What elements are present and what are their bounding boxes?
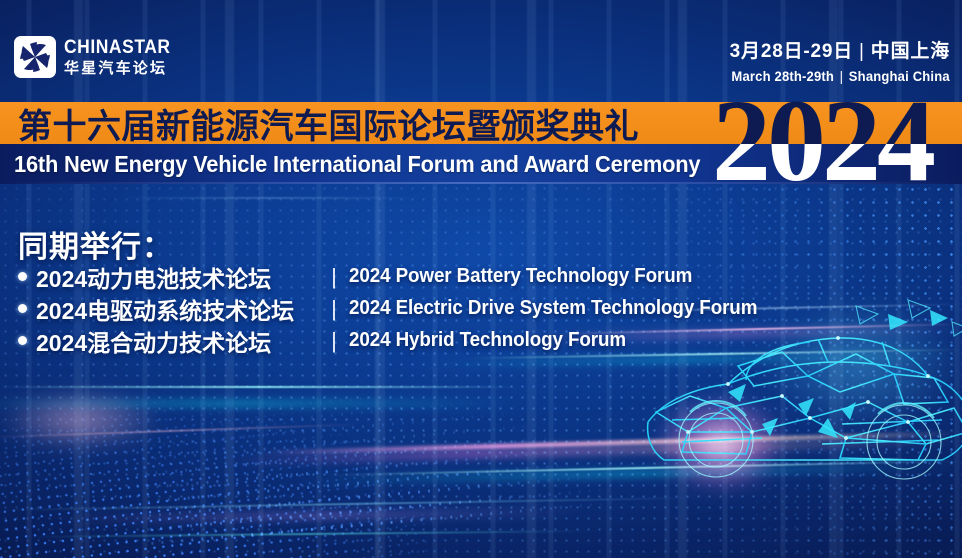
forum-name-en: 2024 Hybrid Technology Forum — [349, 329, 626, 352]
forum-name-cn: 2024电驱动系统技术论坛 — [36, 292, 319, 326]
concurrent-forum-list: 2024动力电池技术论坛 | 2024 Power Battery Techno… — [18, 262, 783, 358]
forum-name-cn: 2024混合动力技术论坛 — [36, 324, 319, 358]
forum-name-en: 2024 Power Battery Technology Forum — [349, 265, 692, 288]
date-separator-cn: | — [853, 42, 871, 61]
logo-name-en: CHINASTAR — [64, 38, 171, 57]
event-date-cn: 3月28日-29日 — [730, 41, 853, 62]
logo-name-cn: 华星汽车论坛 — [64, 61, 180, 76]
bullet-dot-icon — [18, 304, 27, 313]
event-date-en: March 28th-29th — [732, 68, 835, 84]
bullet-dot-icon — [18, 272, 27, 281]
star-burst-icon — [14, 36, 56, 78]
bullet-dot-icon — [18, 336, 27, 345]
list-item: 2024电驱动系统技术论坛 | 2024 Electric Drive Syst… — [18, 294, 783, 323]
event-date-location: 3月28日-29日|中国上海 March 28th-29th|Shanghai … — [715, 42, 950, 83]
event-title-cn: 第十六届新能源汽车国际论坛暨颁奖典礼 — [18, 103, 639, 143]
forum-name-en: 2024 Electric Drive System Technology Fo… — [349, 297, 757, 320]
event-location-cn: 中国上海 — [871, 41, 950, 62]
forum-name-cn: 2024动力电池技术论坛 — [36, 260, 319, 294]
event-location-en: Shanghai China — [849, 68, 950, 84]
forum-divider: | — [319, 328, 349, 354]
event-date-location-en: March 28th-29th|Shanghai China — [732, 69, 950, 83]
event-title-en: 16th New Energy Vehicle International Fo… — [14, 145, 700, 183]
chinastar-logo[interactable]: CHINASTAR 华星汽车论坛 — [14, 36, 180, 78]
event-date-location-cn: 3月28日-29日|中国上海 — [715, 42, 950, 61]
logo-wordmark: CHINASTAR 华星汽车论坛 — [64, 38, 180, 76]
forum-divider: | — [319, 264, 349, 290]
event-poster: CHINASTAR 华星汽车论坛 3月28日-29日|中国上海 March 28… — [0, 0, 962, 558]
list-item: 2024混合动力技术论坛 | 2024 Hybrid Technology Fo… — [18, 326, 783, 355]
forum-divider: | — [319, 296, 349, 322]
date-separator-en: | — [834, 69, 849, 83]
list-item: 2024动力电池技术论坛 | 2024 Power Battery Techno… — [18, 262, 783, 291]
